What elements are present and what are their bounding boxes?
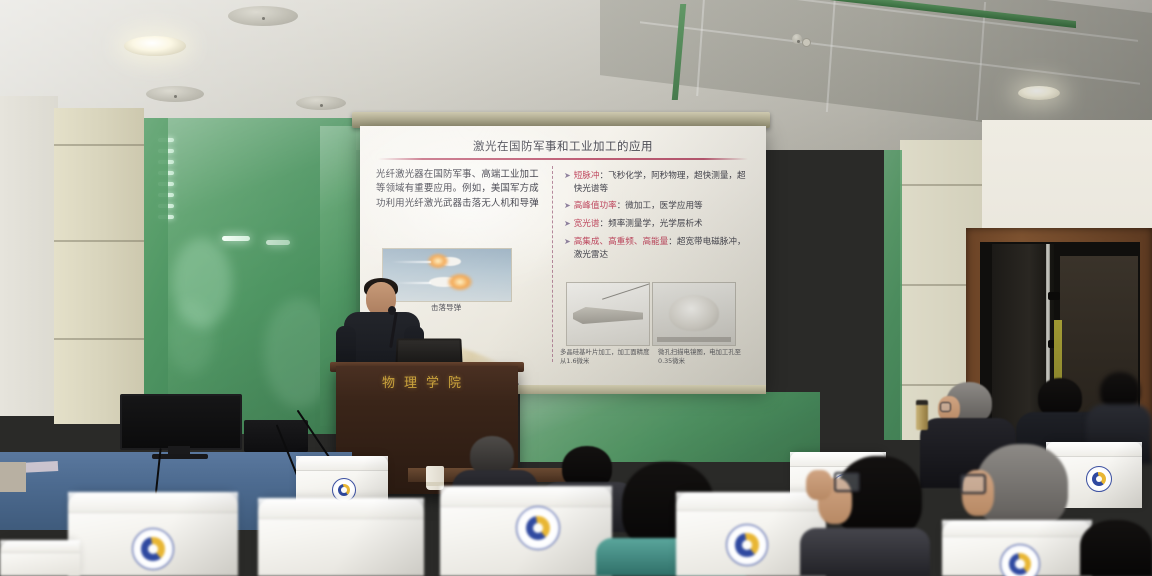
ceiling-downlight <box>124 36 186 56</box>
slide-right-column: ➤ 短脉冲：飞秒化学，阿秒物理，超快测量，超快光谱等 ➤ 高峰值功率：微加工，医… <box>564 170 754 266</box>
slide-image-sem-micrograph <box>652 282 736 346</box>
door-hinge-icon <box>1048 292 1060 300</box>
university-seal-icon <box>516 506 560 550</box>
chevron-bullet-icon: ➤ <box>564 218 571 230</box>
slide-image-blade-machining <box>566 282 650 346</box>
slide-bullet: ➤ 高峰值功率：微加工，医学应用等 <box>564 200 754 213</box>
slide-bullet-head: 高集成、高重频、高能量 <box>574 237 669 247</box>
microphone-icon <box>388 306 396 315</box>
slide-column-divider <box>552 166 553 362</box>
chevron-bullet-icon: ➤ <box>564 200 571 212</box>
chair-cover <box>0 540 80 576</box>
ceiling-speaker-icon <box>146 86 204 102</box>
glasses-icon <box>834 472 860 492</box>
slide-bullet-head: 宽光谱 <box>574 219 600 229</box>
slide-bullet-head: 高峰值功率 <box>574 201 617 211</box>
slide-bullet-head: 短脉冲 <box>574 171 600 181</box>
university-seal-icon <box>132 528 174 570</box>
slide-bullet: ➤ 高集成、高重频、高能量：超宽带电磁脉冲，激光雷达 <box>564 236 754 261</box>
slide-caption-blade: 多晶硅基叶片加工，加工面精度从1.6微米 <box>560 348 652 365</box>
university-seal-icon <box>726 524 768 566</box>
slide-left-paragraph: 光纤激光器在国防军事、高端工业加工等领域有重要应用。例如，美国军方成功利用光纤激… <box>376 168 544 211</box>
tea-bottle <box>916 404 928 430</box>
wall-reflection <box>168 300 214 374</box>
attendee-hand <box>806 470 832 500</box>
wall-green-right-strip <box>884 150 902 440</box>
attendee-head-front <box>1080 520 1152 576</box>
university-seal-icon <box>1086 466 1112 492</box>
wall-green-lower <box>520 392 820 462</box>
wall-left-white <box>0 96 58 416</box>
slide-bullet-text: ：频率测量学，光学层析术 <box>600 219 703 229</box>
slide-bullet-text: ：飞秒化学，阿秒物理，超快测量，超快光谱等 <box>574 171 746 194</box>
chair-cover <box>258 498 424 576</box>
lecture-hall-scene: 激光在国防军事和工业加工的应用 光纤激光器在国防军事、高端工业加工等领域有重要应… <box>0 0 1152 576</box>
sprinkler-icon <box>802 38 811 47</box>
slide-bullet: ➤ 短脉冲：飞秒化学，阿秒物理，超快测量，超快光谱等 <box>564 170 754 195</box>
chevron-bullet-icon: ➤ <box>564 236 571 248</box>
ceiling-speaker-icon <box>792 34 802 44</box>
slide-caption-row: 多晶硅基叶片加工，加工面精度从1.6微米 微孔扫描电镜图，电加工孔至0.35微米 <box>560 348 750 365</box>
ceiling-speaker-icon <box>296 96 346 110</box>
slide-bullet: ➤ 宽光谱：频率测量学，光学层析术 <box>564 218 754 231</box>
slide-title: 激光在国防军事和工业加工的应用 <box>360 138 766 154</box>
ceiling-downlight <box>1018 86 1060 100</box>
slide-image-missile-intercept <box>382 248 512 302</box>
display-monitor[interactable] <box>120 394 242 450</box>
slide-caption-sem: 微孔扫描电镜图，电加工孔至0.35微米 <box>658 348 750 365</box>
equipment-box <box>0 462 26 492</box>
slide-left-column: 光纤激光器在国防军事、高端工业加工等领域有重要应用。例如，美国军方成功利用光纤激… <box>376 168 544 211</box>
podium-nameplate: 物理学院 <box>340 372 512 391</box>
ceiling-speaker-icon <box>228 6 298 26</box>
glasses-icon <box>940 402 951 412</box>
slide-bullet-text: ：微加工，医学应用等 <box>617 201 703 211</box>
glasses-icon <box>960 474 986 494</box>
chevron-bullet-icon: ➤ <box>564 170 571 182</box>
university-seal-icon <box>1000 544 1040 576</box>
attendee-torso-front <box>800 528 930 576</box>
wall-pilaster <box>54 108 144 424</box>
slide-title-rule <box>378 158 748 160</box>
wall-reflected-light <box>222 236 250 241</box>
wall-reflected-light <box>266 240 290 245</box>
tea-bottle-cap <box>916 400 928 405</box>
